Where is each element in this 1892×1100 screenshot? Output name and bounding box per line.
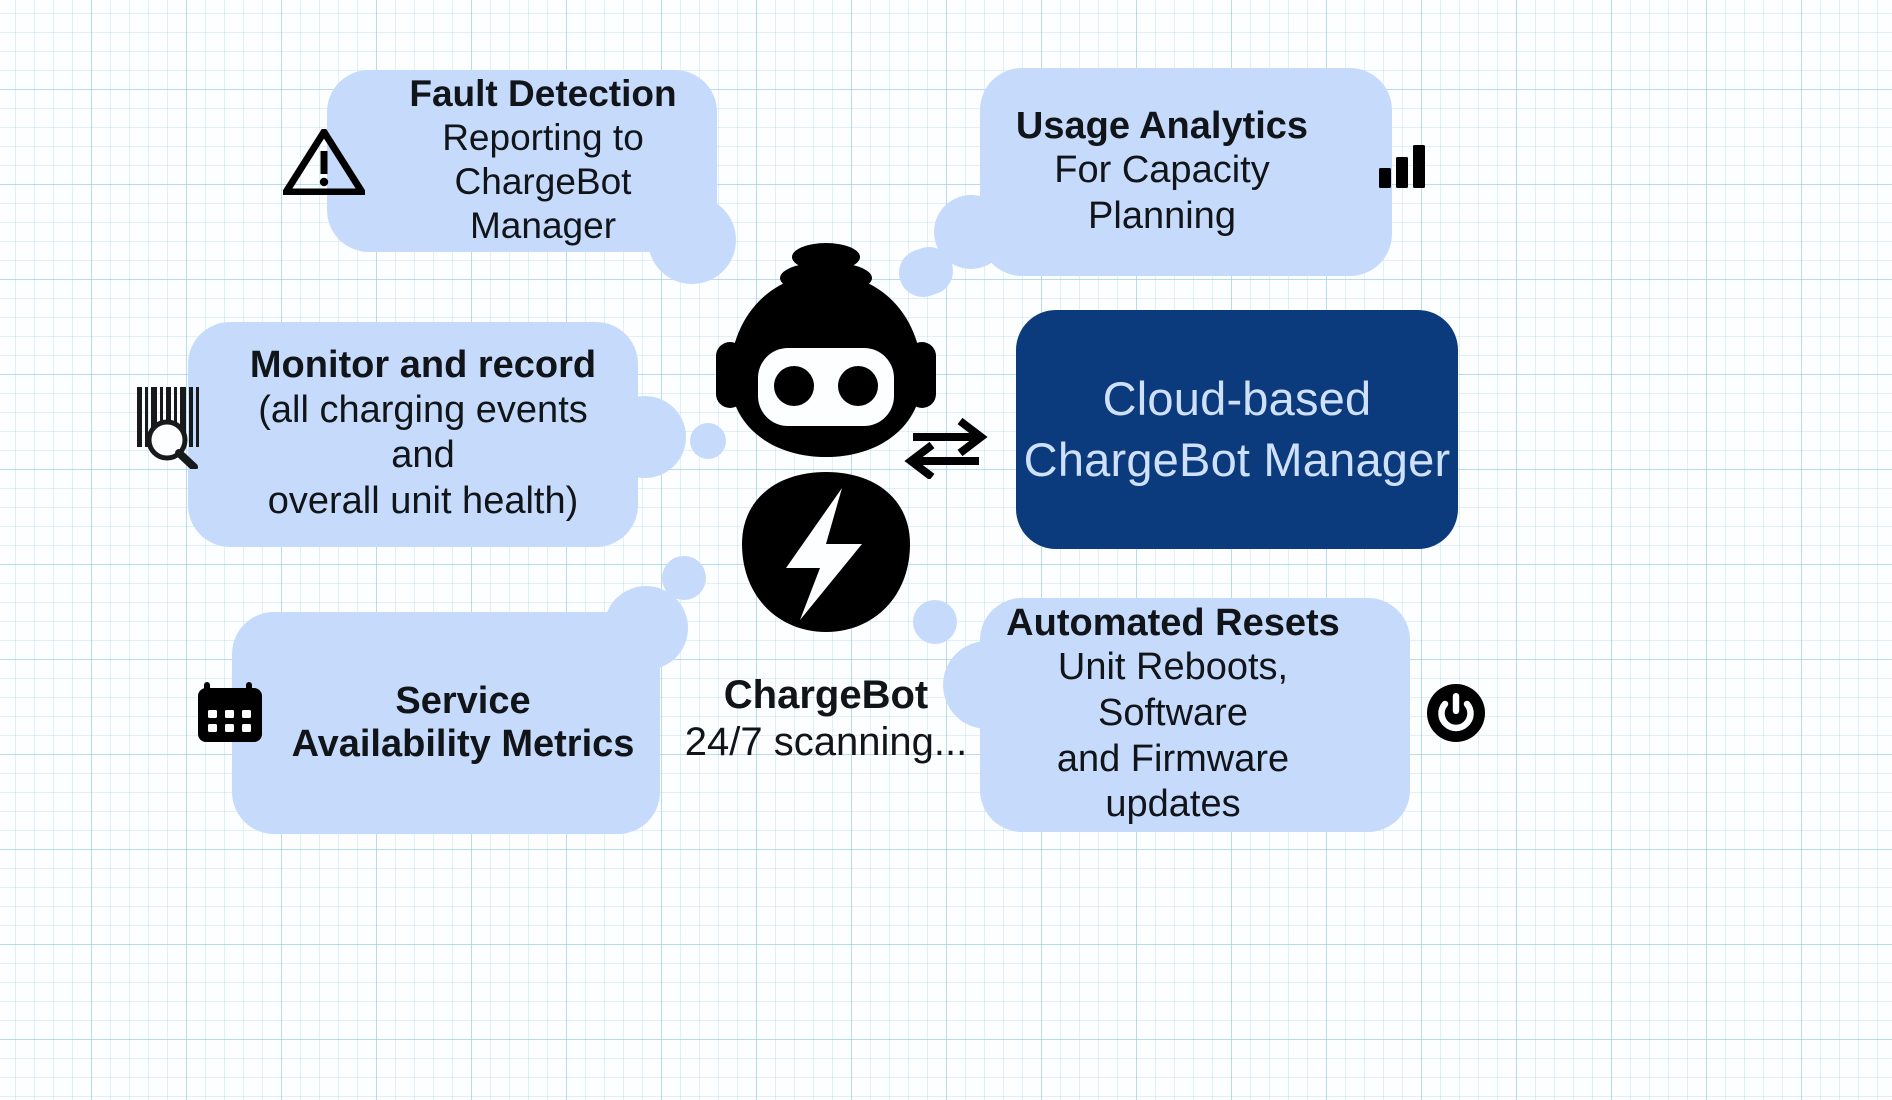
bubble-title: Fault Detection xyxy=(409,73,676,115)
bubble-body-line1: Reporting to xyxy=(442,116,644,160)
mascot-caption: ChargeBot 24/7 scanning... xyxy=(672,672,980,766)
bubble-title-line2: Availability Metrics xyxy=(292,723,635,766)
cloud-box-line2: ChargeBot Manager xyxy=(1024,430,1451,490)
bubble-body-line1: For Capacity Planning xyxy=(1002,148,1322,239)
bubble-title: Monitor and record xyxy=(250,344,596,387)
bubble-title: Usage Analytics xyxy=(1016,105,1308,148)
bubble-body-line1: Unit Reboots, Software xyxy=(998,645,1348,736)
bubble-monitor-and-record[interactable]: Monitor and record (all charging events … xyxy=(188,322,638,547)
bubble-tail-large-monitor-and-record xyxy=(604,396,686,478)
power-button-icon xyxy=(1425,682,1487,744)
chargebot-robot-mascot xyxy=(716,238,936,638)
cloud-based-chargebot-manager-box[interactable]: Cloud-based ChargeBot Manager xyxy=(1016,310,1458,549)
bubble-usage-analytics[interactable]: Usage Analytics For Capacity Planning xyxy=(980,68,1392,276)
bubble-service-availability[interactable]: Service Availability Metrics xyxy=(232,612,660,834)
bubble-title-line1: Service xyxy=(395,680,530,723)
bubble-body-line1: (all charging events and xyxy=(224,388,622,479)
warning-triangle-icon xyxy=(283,129,365,195)
bubble-body-line2: and Firmware updates xyxy=(998,737,1348,828)
bubble-automated-resets[interactable]: Automated Resets Unit Reboots, Software … xyxy=(980,598,1410,832)
bubble-tail-small-service-availability xyxy=(662,556,706,600)
bar-chart-icon xyxy=(1378,144,1426,188)
mascot-caption-line1: ChargeBot xyxy=(672,672,980,718)
bubble-tail-large-usage-analytics xyxy=(934,195,1008,269)
cloud-box-text: Cloud-based ChargeBot Manager xyxy=(1024,369,1451,489)
mascot-caption-line2: 24/7 scanning... xyxy=(672,718,980,766)
barcode-scanner-icon xyxy=(134,385,212,469)
bubble-body-line2: overall unit health) xyxy=(268,479,579,525)
calendar-icon xyxy=(196,678,264,744)
bubble-title: Automated Resets xyxy=(1006,602,1340,645)
diagram-canvas: Fault Detection Reporting to ChargeBot M… xyxy=(0,0,1892,1100)
cloud-box-line1: Cloud-based xyxy=(1024,369,1451,429)
